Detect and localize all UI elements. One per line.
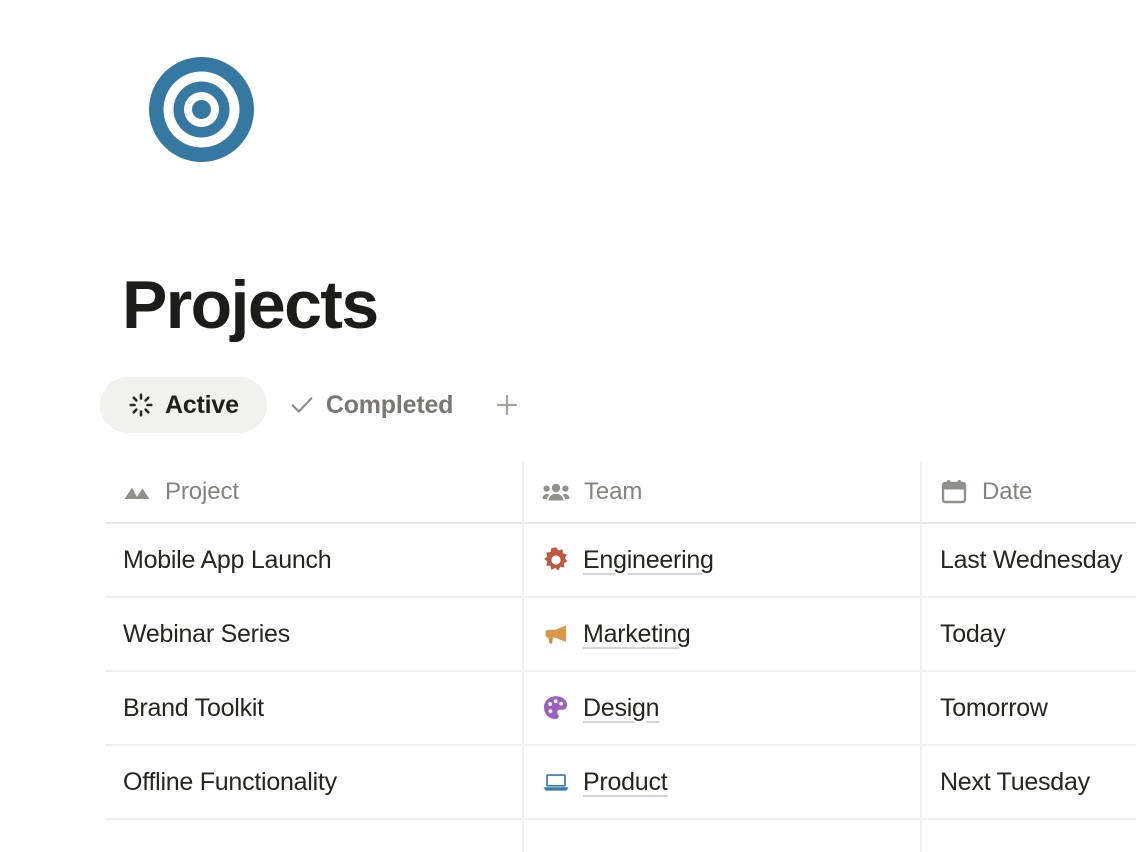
project-name: Mobile App Launch <box>123 546 331 575</box>
view-tabs: Active Completed <box>100 377 529 433</box>
table-row[interactable] <box>105 820 1136 852</box>
cell-team[interactable]: Product <box>522 746 920 818</box>
cell-date[interactable]: Next Tuesday <box>920 746 1136 818</box>
cell-project[interactable]: Webinar Series <box>105 598 522 670</box>
page-title: Projects <box>122 259 378 351</box>
cell-date[interactable] <box>920 820 1136 852</box>
column-header-team[interactable]: Team <box>522 462 920 522</box>
cell-team[interactable] <box>522 820 920 852</box>
team-link[interactable]: Marketing <box>583 620 691 649</box>
project-name: Brand Toolkit <box>123 694 264 723</box>
spinner-icon <box>128 392 154 418</box>
add-view-button[interactable] <box>485 383 529 427</box>
table-row[interactable]: Webinar Series Marketing Today <box>105 598 1136 672</box>
tab-active[interactable]: Active <box>100 377 267 433</box>
project-name: Webinar Series <box>123 620 290 649</box>
cell-date[interactable]: Tomorrow <box>920 672 1136 744</box>
cell-project[interactable]: Offline Functionality <box>105 746 522 818</box>
target-icon <box>149 57 254 162</box>
column-header-project-label: Project <box>165 478 239 506</box>
plus-icon <box>492 390 522 420</box>
megaphone-emoji <box>542 620 570 648</box>
date-value: Tomorrow <box>940 694 1048 723</box>
team-chip[interactable]: Marketing <box>542 620 691 649</box>
cell-team[interactable]: Marketing <box>522 598 920 670</box>
date-value: Next Tuesday <box>940 768 1090 797</box>
projects-table: Project Team <box>105 462 1136 852</box>
project-name: Offline Functionality <box>123 768 337 797</box>
column-header-project[interactable]: Project <box>105 462 522 522</box>
mountains-icon <box>123 478 151 506</box>
team-link[interactable]: Engineering <box>583 546 714 575</box>
cell-date[interactable]: Last Wednesday <box>920 524 1136 596</box>
team-link[interactable]: Product <box>583 768 667 797</box>
column-header-date-label: Date <box>982 478 1032 506</box>
column-header-team-label: Team <box>584 478 642 506</box>
cell-project[interactable]: Brand Toolkit <box>105 672 522 744</box>
gear-emoji <box>542 546 570 574</box>
date-value: Today <box>940 620 1005 649</box>
projects-page: Projects Active <box>0 0 1136 852</box>
date-value: Last Wednesday <box>940 546 1122 575</box>
table-row[interactable]: Brand Toolkit Design <box>105 672 1136 746</box>
team-chip[interactable]: Engineering <box>542 546 714 575</box>
tab-completed-label: Completed <box>326 391 453 420</box>
cell-date[interactable]: Today <box>920 598 1136 670</box>
people-group-icon <box>542 478 570 506</box>
check-icon <box>289 392 315 418</box>
tab-completed[interactable]: Completed <box>267 377 475 433</box>
table-row[interactable]: Offline Functionality Product Next Tuesd… <box>105 746 1136 820</box>
cell-team[interactable]: Design <box>522 672 920 744</box>
palette-emoji <box>542 694 570 722</box>
cell-team[interactable]: Engineering <box>522 524 920 596</box>
table-row[interactable]: Mobile App Launch Engineering <box>105 524 1136 598</box>
cell-project[interactable] <box>105 820 522 852</box>
tab-active-label: Active <box>165 391 239 420</box>
team-chip[interactable]: Design <box>542 694 659 723</box>
laptop-emoji <box>542 768 570 796</box>
column-header-date[interactable]: Date <box>920 462 1136 522</box>
table-header-row: Project Team <box>105 462 1136 524</box>
cell-project[interactable]: Mobile App Launch <box>105 524 522 596</box>
team-link[interactable]: Design <box>583 694 659 723</box>
calendar-icon <box>940 478 968 506</box>
team-chip[interactable]: Product <box>542 768 667 797</box>
